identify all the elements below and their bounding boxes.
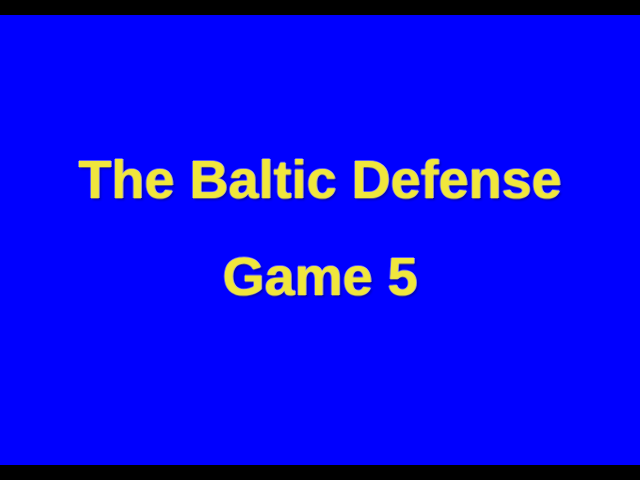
title-slide: The Baltic Defense Game 5 bbox=[0, 15, 640, 465]
letterbox-bar-bottom bbox=[0, 465, 640, 480]
letterbox-bar-top bbox=[0, 0, 640, 15]
slide-title: The Baltic Defense bbox=[0, 153, 640, 207]
video-frame: The Baltic Defense Game 5 bbox=[0, 0, 640, 480]
slide-subtitle: Game 5 bbox=[0, 250, 640, 304]
